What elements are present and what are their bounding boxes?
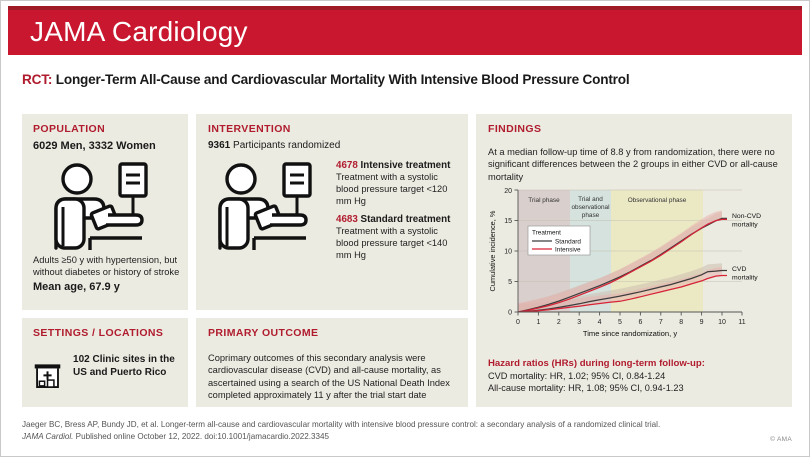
- population-note-text: Adults ≥50 y with hypertension, but with…: [33, 254, 181, 279]
- citation-publication: Published online October 12, 2022. doi:1…: [73, 432, 329, 441]
- study-title: RCT: Longer-Term All-Cause and Cardiovas…: [22, 72, 792, 87]
- visual-abstract-page: JAMA Cardiology RCT: Longer-Term All-Cau…: [0, 0, 810, 457]
- arm-number: 4678: [336, 160, 358, 171]
- findings-heading: FINDINGS: [488, 123, 780, 135]
- chart-svg: Trial phase Trial and observational phas…: [484, 184, 780, 352]
- y-ticks: [515, 190, 519, 312]
- x-ticks: [518, 312, 742, 316]
- phase-label-trial: Trial phase: [528, 197, 560, 204]
- study-type-label: RCT:: [22, 72, 52, 87]
- hazard-line-all-cause: All-cause mortality: HR, 1.08; 95% CI, 0…: [488, 382, 788, 394]
- cumulative-incidence-chart: Trial phase Trial and observational phas…: [484, 184, 780, 352]
- annotation-non-cvd-line2: mortality: [732, 222, 758, 229]
- legend-label-standard: Standard: [555, 238, 581, 245]
- svg-text:11: 11: [738, 319, 745, 326]
- svg-text:9: 9: [700, 319, 704, 326]
- outcome-heading: PRIMARY OUTCOME: [208, 327, 456, 339]
- svg-text:0: 0: [508, 309, 512, 316]
- panel-settings-locations: SETTINGS / LOCATIONS 102 Clinic sites in…: [22, 318, 188, 407]
- svg-text:2: 2: [557, 319, 561, 326]
- study-title-text: Longer-Term All-Cause and Cardiovascular…: [56, 72, 630, 87]
- panel-primary-outcome: PRIMARY OUTCOME Coprimary outcomes of th…: [196, 318, 468, 407]
- outcome-text: Coprimary outcomes of this secondary ana…: [208, 352, 458, 401]
- arm-number: 4683: [336, 214, 358, 225]
- participants-number: 9361: [208, 140, 230, 151]
- arm-name: Intensive treatment: [361, 160, 451, 171]
- intervention-arms: 4678 Intensive treatment Treatment with …: [336, 160, 460, 268]
- phase-label-trial-obs-2: observational: [571, 204, 609, 211]
- citation-line-1: Jaeger BC, Bress AP, Bundy JD, et al. Lo…: [22, 419, 722, 431]
- arm-description: Treatment with a systolic blood pressure…: [336, 171, 460, 207]
- intervention-arm: 4678 Intensive treatment Treatment with …: [336, 160, 460, 207]
- phase-label-trial-obs-1: Trial and: [578, 196, 603, 203]
- arm-heading: 4683 Standard treatment: [336, 214, 460, 225]
- settings-heading: SETTINGS / LOCATIONS: [33, 327, 177, 339]
- participants-label: Participants randomized: [233, 140, 340, 151]
- citation-journal: JAMA Cardiol.: [22, 432, 73, 441]
- arm-heading: 4678 Intensive treatment: [336, 160, 460, 171]
- y-axis-label: Cumulative incidence, %: [488, 210, 497, 291]
- hazard-ratios-block: Hazard ratios (HRs) during long-term fol…: [488, 358, 788, 395]
- person-blood-pressure-icon: [50, 162, 160, 254]
- population-heading: POPULATION: [33, 123, 177, 135]
- panel-findings: FINDINGS At a median follow-up time of 8…: [476, 114, 792, 407]
- legend-label-intensive: Intensive: [555, 246, 581, 253]
- legend-title: Treatment: [532, 230, 561, 237]
- settings-text: 102 Clinic sites in the US and Puerto Ri…: [73, 354, 188, 380]
- intervention-participants: 9361 Participants randomized: [208, 140, 456, 151]
- svg-text:5: 5: [618, 319, 622, 326]
- svg-text:6: 6: [638, 319, 642, 326]
- svg-text:10: 10: [718, 319, 726, 326]
- citation-line-2: JAMA Cardiol. Published online October 1…: [22, 431, 722, 443]
- copyright-notice: © AMA: [770, 436, 792, 443]
- series-annotations: Non-CVD mortality CVD mortality: [732, 213, 761, 282]
- chart-legend: Treatment Standard Intensive: [528, 226, 590, 255]
- svg-text:20: 20: [504, 188, 512, 195]
- settings-content: 102 Clinic sites in the US and Puerto Ri…: [33, 354, 188, 398]
- population-mean-age: Mean age, 67.9 y: [33, 280, 181, 295]
- x-tick-labels: 0 1 2 3 4 5 6 7 8 9 10 11: [516, 319, 746, 326]
- y-tick-labels: 0 5 10 15 20: [504, 188, 512, 316]
- panel-intervention: INTERVENTION 9361 Participants randomize…: [196, 114, 468, 310]
- population-count: 6029 Men, 3332 Women: [33, 140, 177, 152]
- svg-text:1: 1: [536, 319, 540, 326]
- svg-text:10: 10: [504, 249, 512, 256]
- arm-name: Standard treatment: [361, 214, 451, 225]
- x-axis-label: Time since randomization, y: [583, 329, 677, 338]
- svg-text:5: 5: [508, 279, 512, 286]
- population-note: Adults ≥50 y with hypertension, but with…: [33, 254, 181, 294]
- svg-text:3: 3: [577, 319, 581, 326]
- findings-intro: At a median follow-up time of 8.8 y from…: [488, 146, 782, 183]
- svg-text:8: 8: [679, 319, 683, 326]
- annotation-cvd-line1: CVD: [732, 266, 746, 273]
- annotation-non-cvd-line1: Non-CVD: [732, 213, 761, 220]
- journal-title: JAMA Cardiology: [30, 16, 248, 48]
- phase-label-trial-obs-3: phase: [582, 212, 600, 219]
- arm-description: Treatment with a systolic blood pressure…: [336, 225, 460, 261]
- svg-text:4: 4: [598, 319, 602, 326]
- intervention-heading: INTERVENTION: [208, 123, 456, 135]
- clinic-building-icon: [33, 354, 62, 398]
- svg-text:7: 7: [659, 319, 663, 326]
- person-blood-pressure-icon: [214, 162, 324, 254]
- hazard-line-cvd: CVD mortality: HR, 1.02; 95% CI, 0.84-1.…: [488, 370, 788, 382]
- phase-label-observational: Observational phase: [628, 197, 687, 204]
- svg-text:15: 15: [504, 218, 512, 225]
- panel-population: POPULATION 6029 Men, 3332 Women Adults ≥…: [22, 114, 188, 310]
- intervention-arm: 4683 Standard treatment Treatment with a…: [336, 214, 460, 261]
- footer-citation: Jaeger BC, Bress AP, Bundy JD, et al. Lo…: [22, 419, 722, 442]
- annotation-cvd-line2: mortality: [732, 275, 758, 282]
- journal-masthead: JAMA Cardiology: [8, 10, 802, 55]
- svg-text:0: 0: [516, 319, 520, 326]
- hazard-heading: Hazard ratios (HRs) during long-term fol…: [488, 358, 788, 369]
